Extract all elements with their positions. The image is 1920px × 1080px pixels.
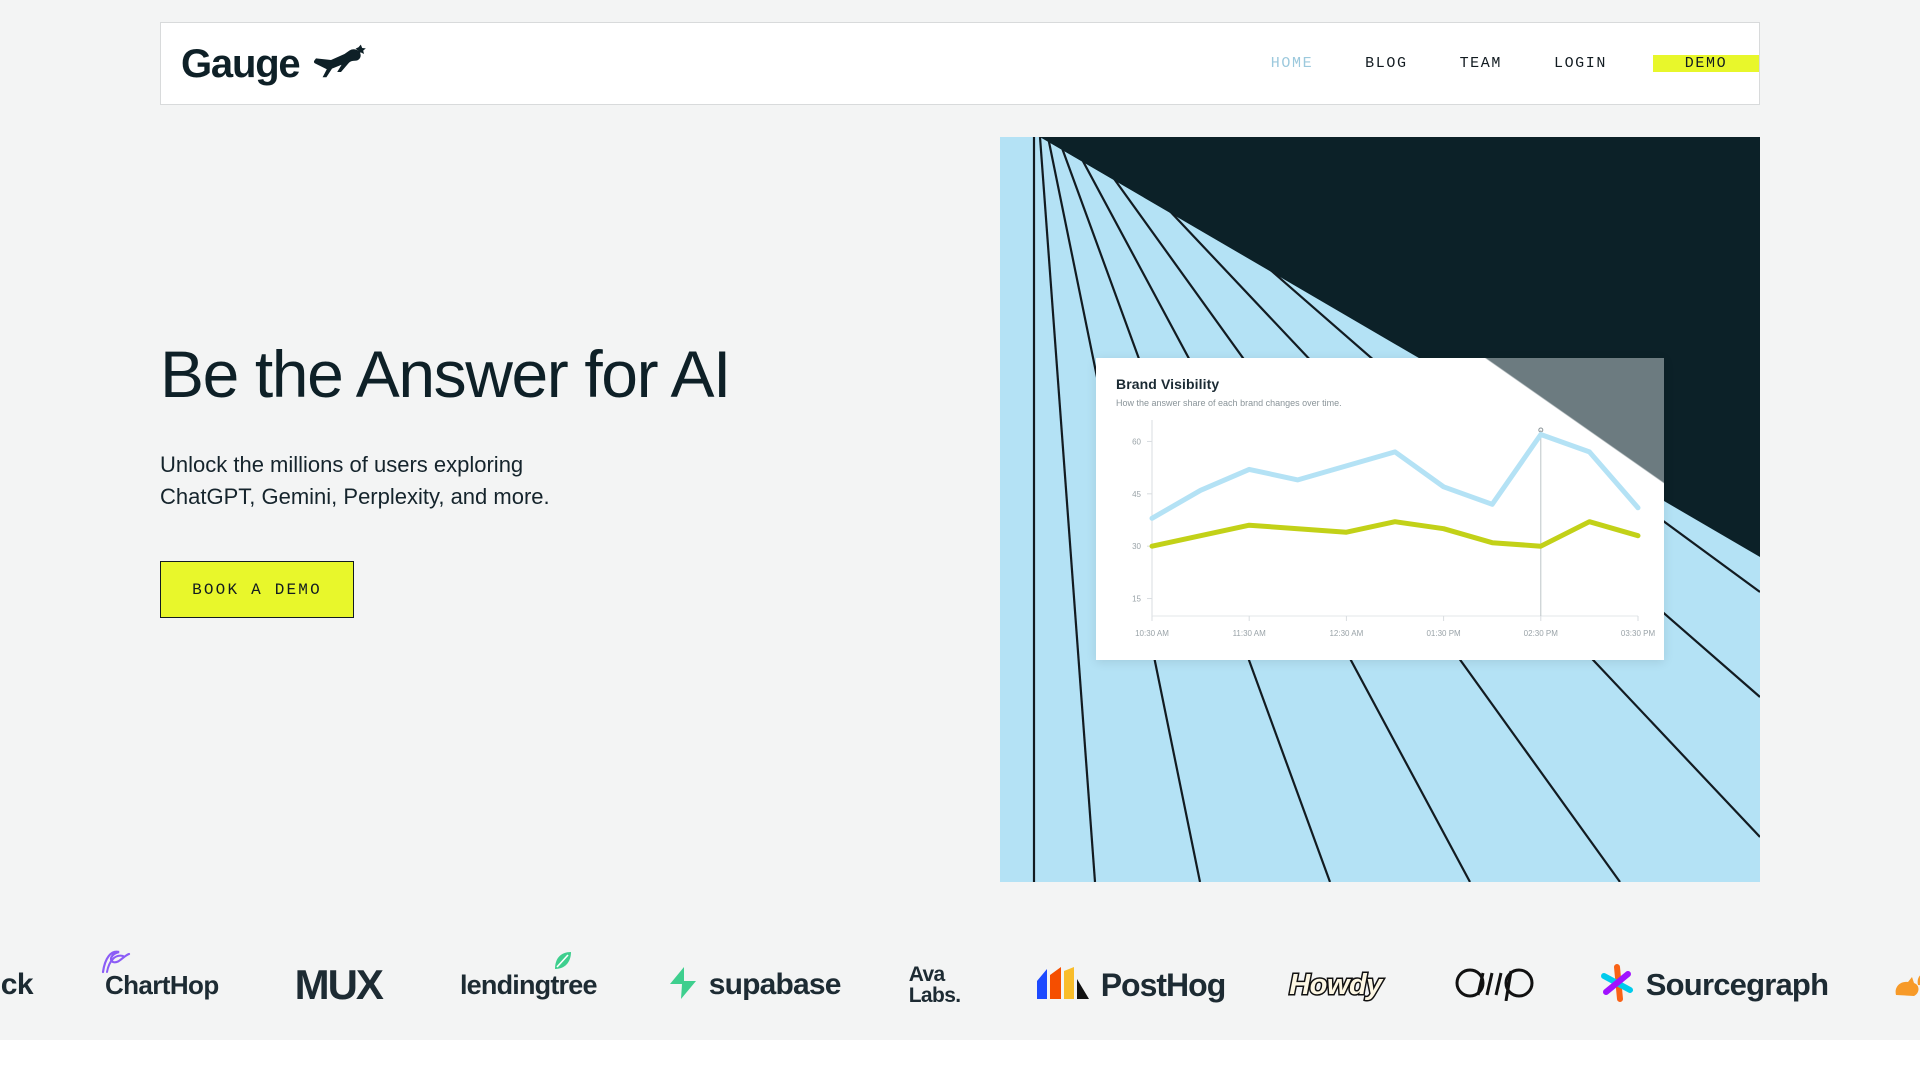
logo-label: Sourcegraph [1646, 967, 1828, 1003]
logo-ava-labs: Ava Labs. [909, 964, 979, 1006]
demo-button[interactable]: DEMO [1653, 55, 1759, 72]
nav-item-home[interactable]: HOME [1245, 23, 1339, 104]
book-a-demo-button[interactable]: BOOK A DEMO [160, 561, 354, 618]
svg-text:30: 30 [1132, 542, 1141, 551]
nav-item-team[interactable]: TEAM [1434, 23, 1528, 104]
svg-text:12:30 AM: 12:30 AM [1329, 629, 1363, 638]
brand-visibility-card: Brand Visibility How the answer share of… [1096, 358, 1664, 660]
svg-text:45: 45 [1132, 490, 1141, 499]
svg-text:02:30 PM: 02:30 PM [1524, 629, 1559, 638]
logo-marquee: Duck ChartHop MUX lendingtree [0, 930, 1920, 1040]
hero-title: Be the Answer for AI [160, 340, 860, 409]
main-nav: HOME BLOG TEAM LOGIN DEMO [1245, 23, 1759, 104]
amp-wordmark-icon [1454, 965, 1534, 1006]
brand-logo[interactable]: Gauge [161, 23, 367, 104]
landing-page: Gauge HOME BLOG TEAM LOGIN DEMO Be the A… [0, 0, 1920, 1080]
bolt-icon [667, 966, 699, 1005]
logo-lendingtree: lendingtree [460, 970, 597, 1001]
duck-icons [1890, 965, 1920, 1006]
svg-text:03:30 PM: 03:30 PM [1621, 629, 1656, 638]
logo-label: MUX [295, 961, 382, 1009]
dog-icon [313, 44, 367, 83]
nav-item-blog[interactable]: BLOG [1339, 23, 1433, 104]
logo-motherduck: Mothe [1890, 965, 1920, 1006]
charthop-squiggle-icon [99, 948, 139, 979]
leaf-icon [552, 950, 574, 977]
svg-text:60: 60 [1132, 437, 1141, 446]
logo-mux: MUX [295, 961, 382, 1009]
hero-copy: Be the Answer for AI Unlock the millions… [160, 340, 860, 618]
site-header: Gauge HOME BLOG TEAM LOGIN DEMO [160, 22, 1760, 105]
chart-subtitle: How the answer share of each brand chang… [1116, 398, 1644, 408]
svg-text:01:30 PM: 01:30 PM [1426, 629, 1461, 638]
logo-supabase: supabase [667, 966, 841, 1005]
hero-subtitle: Unlock the millions of users exploring C… [160, 449, 860, 513]
hero-subtitle-line-2: ChatGPT, Gemini, Perplexity, and more. [160, 481, 860, 513]
logo-label: supabase [709, 968, 841, 1002]
hero-section: Gauge HOME BLOG TEAM LOGIN DEMO Be the A… [0, 0, 1920, 1040]
logo-label: Ava Labs. [909, 964, 979, 1006]
brand-name: Gauge [181, 44, 299, 84]
logo-label: PostHog [1101, 967, 1226, 1004]
logo-motherduck-partial: Duck [0, 968, 33, 1002]
chart-header: Brand Visibility How the answer share of… [1096, 358, 1664, 408]
logo-label: Duck [0, 968, 33, 1002]
svg-text:15: 15 [1132, 595, 1141, 604]
sourcegraph-asterisk-icon [1598, 964, 1636, 1007]
logo-label: Howdy [1289, 969, 1382, 1002]
logo-amp [1454, 965, 1534, 1006]
chart-plot: 6045301510:30 AM11:30 AM12:30 AM01:30 PM… [1096, 410, 1664, 660]
logo-charthop: ChartHop [93, 970, 219, 1001]
svg-text:10:30 AM: 10:30 AM [1135, 629, 1169, 638]
logo-posthog: PostHog [1035, 965, 1226, 1006]
chart-title: Brand Visibility [1116, 376, 1644, 392]
logo-sourcegraph: Sourcegraph [1598, 964, 1828, 1007]
logo-howdy: Howdy [1289, 969, 1382, 1002]
hero-subtitle-line-1: Unlock the millions of users exploring [160, 449, 860, 481]
nav-item-login[interactable]: LOGIN [1528, 23, 1633, 104]
posthog-bars-icon [1035, 965, 1091, 1006]
svg-text:11:30 AM: 11:30 AM [1233, 629, 1267, 638]
logo-label: lendingtree [460, 970, 597, 1001]
